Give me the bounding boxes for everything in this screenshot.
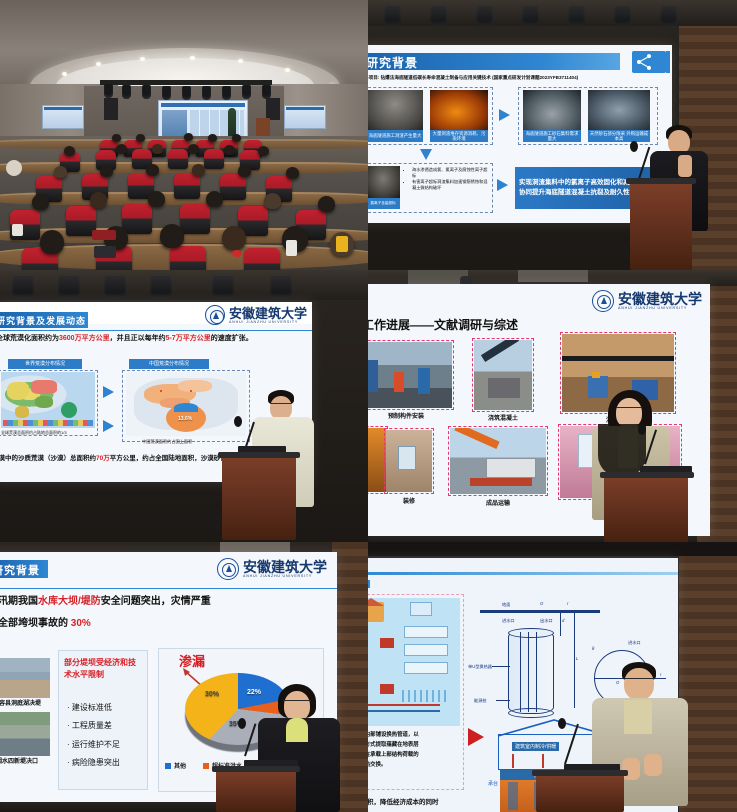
pipe-red	[512, 754, 514, 768]
audience-head	[64, 146, 75, 156]
stage-spotlight-icon	[242, 85, 251, 99]
headline2-p1: 30%	[71, 618, 91, 629]
audience-head	[264, 193, 281, 209]
university-name-cn: 安徽建筑大学	[229, 307, 307, 320]
notebook	[92, 230, 116, 240]
microphone-icon	[558, 718, 566, 729]
photo-caption: 海底隧道施工砂石集料需求量大	[523, 130, 581, 142]
diagram-label-exchanger: 单U型换热器	[468, 664, 492, 670]
audience-head	[116, 144, 127, 154]
slide-title: 工作进展——文献调研与综述	[368, 316, 518, 333]
seat	[174, 173, 200, 199]
podium-top	[600, 472, 694, 478]
china-desert-map: 13.6%	[126, 372, 246, 436]
seat	[204, 149, 224, 169]
diagram-label-indoor: 建筑室内制冷/供暖	[512, 742, 559, 751]
natural-aggregate-photo	[588, 90, 650, 130]
bullet-item: · 运行维护不足	[67, 736, 143, 754]
glasses-icon	[622, 678, 656, 684]
arrow-right-icon	[103, 386, 114, 398]
plan-axis-theta-label: θ	[592, 646, 594, 651]
microphone-icon	[638, 424, 646, 435]
university-name-cn: 安徽建筑大学	[243, 560, 327, 574]
slide-title: 研究背景	[368, 54, 418, 71]
headline-p1: 水库大坝/堤防	[38, 596, 101, 607]
slide-rule	[368, 572, 678, 575]
headline-p2: ，并且正以每年约	[110, 335, 166, 342]
seat	[244, 248, 280, 270]
hand-right	[644, 754, 662, 776]
water-bottle	[286, 240, 297, 256]
yellow-bag	[336, 236, 348, 252]
bullet-item: 海水渗透造成氯、氯离子及腐蚀性离子超标	[412, 167, 489, 179]
microphone-icon	[630, 141, 638, 152]
audience-head	[152, 144, 163, 154]
audience-head	[32, 194, 49, 210]
slide-subtitle: 子项目: 钻爆法海底隧道低碳长寿命混凝土制备与应用关键技术 (国家重点研发计划课…	[368, 75, 668, 81]
stage-spotlight-icon	[262, 85, 271, 99]
slide-title-bar: 研究背景	[0, 560, 48, 578]
slide-title-bar: 研究背景及发展动态	[0, 312, 88, 328]
ceiling-strip	[368, 542, 737, 556]
photo-caption: 装修	[386, 496, 432, 505]
stage-light-icon	[430, 6, 447, 26]
microphone-icon	[238, 718, 246, 729]
bullets-title: 部分堤坝受经济和技术水平限制	[64, 657, 142, 681]
inner-shirt	[624, 700, 652, 734]
slide-title: 研究背景及发展动态	[0, 314, 86, 327]
photo-caption: 成品运输	[450, 498, 546, 507]
stage-light-icon	[212, 276, 234, 298]
ground-line	[480, 610, 600, 613]
tablet	[94, 246, 116, 258]
headline-p3: 5-7万平方公里	[166, 335, 211, 342]
stage-light-icon	[476, 6, 493, 26]
stage-spotlight-icon	[162, 86, 171, 100]
audience-head	[258, 146, 269, 156]
seal-icon	[205, 305, 225, 325]
slide-headline-2: 占全部垮坝事故的 30%	[0, 614, 91, 629]
audience-head	[232, 134, 241, 142]
bullets-panel: 部分堤坝受经济和技术水平限制 · 建设标准低 · 工程质量差 · 运行维护不足 …	[58, 650, 148, 790]
u-tube-leg	[536, 632, 537, 712]
audience-head	[318, 196, 335, 212]
podium	[536, 774, 624, 812]
side-display-right	[284, 105, 326, 129]
dimension-label-L: L	[576, 656, 578, 661]
map-pie-value: 13.6%	[178, 416, 192, 422]
body-text-block: 桩体内部铺设换热管道，以 化的方式提取蕴藏在地表层 能，在承载上部结构荷载的 进…	[368, 730, 460, 770]
downlight-icon	[62, 72, 67, 76]
audience-head	[112, 134, 121, 142]
collar	[286, 718, 308, 742]
panel-research-background-tunnel: 研究背景 子项目: 钻爆法海底隧道低碳长寿命混凝土制备与应用关键技术 (国家重点…	[368, 0, 737, 270]
seal-icon	[592, 290, 614, 312]
diagram-label-energy-pile: 能源桩	[474, 698, 487, 704]
dimension-line	[574, 612, 575, 708]
stage-spotlight-icon	[142, 85, 151, 99]
map-caption-left: 世界荒漠分布情况	[8, 359, 82, 369]
chloride-photo	[368, 166, 400, 198]
bullet-item: · 病险隐患突出	[67, 754, 143, 772]
panel-desertification: 安徽建筑大学 ANHUI JIANZHU UNIVERSITY 研究背景及发展动…	[0, 270, 368, 542]
precast-install-photo	[368, 342, 452, 408]
dam-breach-photo-2	[0, 712, 50, 756]
axis-origin-label: O	[540, 601, 543, 606]
diagram-label-inlet-2: 进水口	[628, 640, 641, 646]
stage-light-icon	[614, 6, 631, 26]
leader-line	[496, 700, 510, 701]
university-logo: 安徽建筑大学 ANHUI JIANZHU UNIVERSITY	[217, 558, 327, 580]
audience-head	[208, 134, 217, 142]
downlight-icon	[285, 68, 290, 72]
ceiling-panel	[518, 270, 588, 282]
seat	[122, 204, 152, 234]
concrete-pour-photo	[474, 340, 532, 410]
panel-auditorium	[0, 0, 368, 270]
world-desert-map	[1, 372, 95, 428]
stage-light-icon	[104, 276, 126, 298]
photo-caption: 预制构件安装	[368, 411, 452, 420]
stage-light-icon	[270, 276, 292, 298]
photo-caption: 氯离子含量超标	[368, 198, 400, 209]
seal-icon	[217, 558, 239, 580]
lighting-truss	[368, 0, 737, 26]
audience-head	[192, 164, 205, 176]
u-tube-leg	[520, 632, 521, 712]
red-object	[232, 250, 242, 257]
seat	[180, 204, 210, 234]
product-transport-photo	[450, 428, 546, 494]
map-note-left: 全球荒漠总面积约占陆地总面积的1/3	[1, 430, 67, 436]
legend-item-other: 其他	[165, 761, 186, 770]
pie-label-seepage: 30%	[205, 691, 219, 698]
university-name-cn: 安徽建筑大学	[618, 292, 702, 306]
university-logo: 安徽建筑大学 ANHUI JIANZHU UNIVERSITY	[205, 305, 307, 325]
slide-headline: ，汛期我国水库大坝/堤防安全问题突出，灾情严重	[0, 594, 337, 609]
footer-p1: 70万	[96, 455, 110, 462]
downlight-icon	[96, 62, 101, 66]
stage-light-icon	[12, 276, 34, 298]
audience-head	[222, 226, 246, 250]
cylinder-bottom	[508, 708, 554, 718]
photo-caption: 湘水四新堤决口	[0, 756, 50, 765]
pile-cylinder	[508, 630, 554, 714]
dimension-line	[560, 612, 561, 636]
bullet-item: · 工程质量差	[67, 717, 143, 735]
slag-photo	[430, 90, 488, 130]
pipe-red	[542, 754, 544, 768]
seat	[220, 174, 246, 200]
body-line: 桩体内部铺设换热管道，以	[368, 730, 460, 740]
podium-top	[212, 766, 300, 772]
tunnel-photo	[368, 90, 423, 130]
bullet-item: · 建设标准低	[67, 699, 143, 717]
photo-caption: 浇筑混凝土	[474, 413, 532, 422]
glasses-icon	[616, 407, 642, 412]
headline2-p0: 占全部垮坝事故的	[0, 618, 71, 629]
podium	[630, 182, 692, 270]
panel-dam-safety: 安徽建筑大学 ANHUI JIANZHU UNIVERSITY 研究背景 ，汛期…	[0, 542, 368, 812]
microphone-icon	[234, 416, 242, 427]
stage-light-icon	[150, 276, 172, 298]
downlight-icon	[238, 59, 243, 63]
headline-p2: 安全问题突出，灾情严重	[101, 596, 211, 607]
headline-p0: ，汛期我国	[0, 596, 38, 607]
stage-light-icon	[522, 6, 539, 26]
university-name-en: ANHUI JIANZHU UNIVERSITY	[229, 320, 307, 324]
stage-spotlight-icon	[222, 86, 231, 100]
stage-spotlight-icon	[202, 86, 211, 100]
slide-header	[161, 103, 245, 107]
audience-head	[188, 144, 199, 154]
photo-collage: 研究背景 子项目: 钻爆法海底隧道低碳长寿命混凝土制备与应用关键技术 (国家重点…	[0, 0, 737, 812]
stage-spotlight-icon	[104, 84, 113, 98]
podium-top	[532, 770, 628, 776]
panel-energy-pile: 桩体内部铺设换热管道，以 化的方式提取蕴藏在地表层 能，在承载上部结构荷载的 进…	[368, 542, 737, 812]
footer-p0: 荒漠中的沙质荒漠（沙漠）总面积约	[0, 455, 96, 462]
projection-screen: 研究背景 子项目: 钻爆法海底隧道低碳长寿命混凝土制备与应用关键技术 (国家重点…	[368, 45, 672, 223]
stage-light-icon	[568, 6, 585, 26]
audience-head	[100, 165, 113, 177]
flower-decor	[6, 160, 22, 176]
audience-head	[148, 191, 165, 207]
share-icon	[632, 51, 666, 73]
audience-head	[54, 166, 67, 178]
lighting-truss	[0, 270, 368, 300]
seat	[168, 149, 188, 169]
title-accent	[368, 580, 370, 588]
downlight-icon	[140, 57, 145, 61]
ceiling-panel	[408, 270, 468, 284]
arrow-right-icon	[499, 109, 510, 121]
dimension-label-d: d	[562, 618, 564, 623]
audience-head	[224, 145, 235, 155]
stage-spotlight-icon	[122, 85, 131, 99]
interior-finishing-photo	[386, 430, 432, 492]
arrow-right-icon	[497, 179, 508, 191]
podium-top	[218, 452, 300, 458]
hand	[678, 155, 692, 177]
map-caption-right: 中国荒漠分布情况	[129, 359, 209, 369]
cup	[12, 224, 23, 236]
hand-left	[622, 758, 640, 780]
stage-spotlight-icon	[182, 86, 191, 100]
audience-head	[184, 133, 193, 141]
axis-r-label: r	[567, 601, 568, 606]
downlight-icon	[190, 56, 195, 60]
glasses-icon	[270, 403, 292, 407]
side-display-left	[42, 105, 84, 129]
glasses-icon	[283, 700, 311, 705]
u-tube-leg	[528, 632, 529, 712]
podium	[604, 476, 688, 542]
body-line: 能，在承载上部结构荷载的	[368, 750, 460, 760]
audience-head	[160, 224, 184, 248]
tunnel-aggregate-photo	[523, 90, 581, 130]
audience-head	[136, 134, 145, 142]
face	[284, 691, 310, 721]
podium	[216, 770, 296, 812]
slide-title: 研究背景	[0, 562, 40, 578]
panel-literature-review: 安徽建筑大学 ANHUI JIANZHU UNIVERSITY 工作进展——文献…	[368, 270, 737, 542]
body-line-highlight: 占面积，降低经济成本的同时	[368, 796, 439, 806]
audience-head	[238, 165, 251, 177]
speaker-box-right	[266, 98, 280, 120]
university-logo: 安徽建筑大学 ANHUI JIANZHU UNIVERSITY	[592, 290, 702, 312]
podium	[222, 456, 296, 540]
arrow-down-icon	[420, 149, 432, 160]
audience-head	[286, 167, 299, 179]
arrow-right-icon	[103, 420, 114, 432]
photo-caption: 海底隧道施工洞渣产生量大	[368, 130, 423, 142]
headline-p0: 全球荒漠化面积约为	[0, 335, 59, 342]
body-line: 进行热交换。	[368, 760, 460, 770]
slide-headline: 全球荒漠化面积约为3600万平方公里，并且正以每年约5-7万平方公里的速度扩张。	[0, 334, 310, 344]
diagram-label-inlet: 进水口	[502, 618, 515, 624]
headline-p4: 的速度扩张。	[211, 335, 253, 342]
body-line: 化的方式提取蕴藏在地表层	[368, 740, 460, 750]
diagram-label-outlet: 出水口	[540, 618, 553, 624]
bullet-item: 有害离子超标洞渣集料加速钢筋锈蚀和混凝土微结构破坏	[412, 179, 489, 191]
photo-caption: 天然砂石部分限采 外购运输成本高	[588, 130, 650, 142]
stage-light-icon	[384, 6, 401, 26]
map-note-right: 中国荒漠面积约占国土面积	[142, 439, 192, 445]
face	[624, 668, 654, 700]
cylinder-top	[508, 628, 554, 638]
headline-p1: 3600万平方公里	[59, 335, 110, 342]
audience-head	[146, 164, 159, 176]
photo-caption: 华容县洞庭湖决堤	[0, 698, 50, 707]
stage-light-icon	[660, 6, 677, 26]
arrow-right-icon	[468, 728, 484, 746]
stage-light-icon	[58, 276, 80, 298]
leader-line	[492, 666, 510, 667]
audience-head	[90, 192, 107, 208]
speaker-box-left	[104, 98, 118, 120]
podium-top	[626, 178, 696, 184]
diagram-label-ground: 地面	[502, 602, 510, 608]
hvac-system-diagram	[368, 598, 460, 726]
seat	[170, 246, 206, 270]
photo-caption: 大量洞渣堆存资源消耗、污染环境	[430, 130, 488, 142]
dam-breach-photo-1	[0, 658, 50, 698]
audience-head	[206, 191, 223, 207]
audience-head	[40, 230, 64, 254]
